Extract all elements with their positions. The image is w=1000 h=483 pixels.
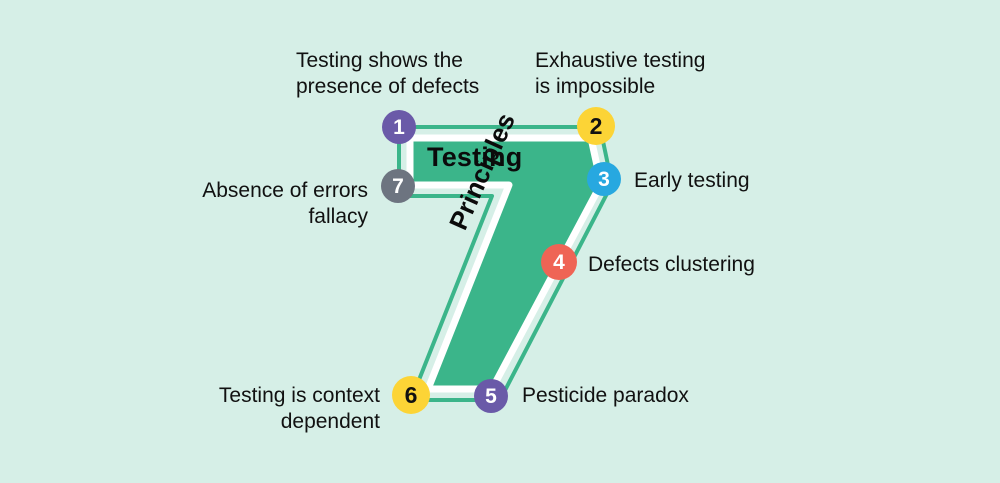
infographic-canvas: Testing Principles Testing shows the pre… bbox=[0, 0, 1000, 483]
principle-label-4: Defects clustering bbox=[588, 252, 838, 278]
principle-label-7: Absence of errors fallacy bbox=[150, 178, 368, 230]
principle-label-6: Testing is context dependent bbox=[150, 383, 380, 435]
principle-label-3: Early testing bbox=[634, 168, 864, 194]
principle-badge-2: 2 bbox=[577, 107, 615, 145]
principle-label-2: Exhaustive testing is impossible bbox=[535, 48, 755, 100]
principle-badge-4: 4 bbox=[541, 244, 577, 280]
principle-badge-6: 6 bbox=[392, 376, 430, 414]
principle-label-1: Testing shows the presence of defects bbox=[296, 48, 496, 100]
principle-badge-1: 1 bbox=[382, 110, 416, 144]
principle-label-5: Pesticide paradox bbox=[522, 383, 762, 409]
principle-badge-7: 7 bbox=[381, 169, 415, 203]
principle-badge-5: 5 bbox=[474, 379, 508, 413]
principle-badge-3: 3 bbox=[587, 162, 621, 196]
